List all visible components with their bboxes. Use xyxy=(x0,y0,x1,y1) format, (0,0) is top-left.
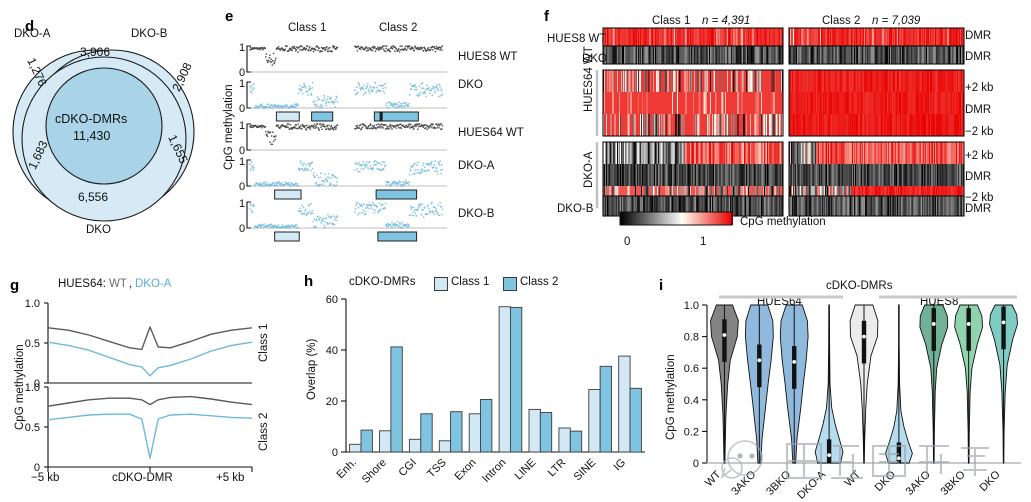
svg-text:CGI: CGI xyxy=(397,457,419,479)
panel-d: d DKO-A DKO-B DKO 3,906 1,276 2,908 1,68… xyxy=(0,0,215,260)
panel-f-colorbar-min: 0 xyxy=(624,236,630,248)
svg-text:0: 0 xyxy=(332,447,338,459)
panel-i: i cDKO-DMRs HUES64 HUES8 CpG methylation… xyxy=(655,265,1031,500)
svg-text:0.5: 0.5 xyxy=(25,338,40,350)
panel-f-left-label-hues8wt: HUES8 WT xyxy=(547,33,606,45)
svg-text:0.6: 0.6 xyxy=(684,363,699,375)
panel-g-letter: g xyxy=(10,277,19,294)
panel-f-heatmaps xyxy=(535,0,1031,250)
svg-text:0.5: 0.5 xyxy=(25,422,40,434)
svg-text:WT: WT xyxy=(703,468,724,489)
svg-text:TSS: TSS xyxy=(425,457,449,481)
panel-f-right-label-0: DMR xyxy=(965,30,991,42)
panel-e-track-label-0: HUES8 WT xyxy=(458,51,517,63)
svg-text:40: 40 xyxy=(326,345,338,357)
panel-f-right-label-8: DMR xyxy=(965,203,991,215)
svg-text:SINE: SINE xyxy=(572,457,599,484)
panel-g-title-series2: DKO-A xyxy=(135,278,171,290)
panel-f-left-label-hues64wt: HUES64 WT xyxy=(583,52,595,112)
venn-center-value: 11,430 xyxy=(73,129,110,143)
panel-h: h cDKO-DMRs Class 1 Class 2 Overlap (%) … xyxy=(300,265,660,500)
svg-text:1.0: 1.0 xyxy=(684,300,699,312)
panel-f: f Class 1 n = 4,391 Class 2 n = 7,039 HU… xyxy=(535,0,1031,262)
panel-f-right-label-6: DMR xyxy=(965,171,991,183)
venn-center-label: cDKO-DMRs xyxy=(55,112,127,126)
panel-g-title-series1: WT xyxy=(109,278,127,290)
venn-count-top: 3,906 xyxy=(80,45,110,59)
venn-count-bottom: 6,556 xyxy=(78,190,108,204)
panel-f-left-label-hues64wt-text: HUES64 WT xyxy=(583,46,595,112)
panel-g-xtick-2: +5 kb xyxy=(216,472,244,484)
panel-f-right-label-4: −2 kb xyxy=(965,126,993,138)
svg-text:1: 1 xyxy=(239,156,245,168)
svg-text:DKO: DKO xyxy=(977,468,1003,494)
panel-f-colorbar-max: 1 xyxy=(700,236,706,248)
svg-text:0.2: 0.2 xyxy=(684,426,699,438)
svg-text:0: 0 xyxy=(239,223,245,235)
svg-text:Exon: Exon xyxy=(452,457,478,483)
svg-text:0: 0 xyxy=(693,458,699,470)
panel-f-right-label-2: +2 kb xyxy=(965,82,993,94)
panel-g-xtick-1: cDKO-DMR xyxy=(112,472,173,484)
svg-text:LINE: LINE xyxy=(513,457,539,483)
panel-f-left-label-dkoa: DKO-A xyxy=(583,152,595,188)
svg-text:1: 1 xyxy=(239,42,245,54)
panel-e: e CpG methylation Class 1 Class 2 101010… xyxy=(215,0,535,260)
panel-f-right-label-1: DMR xyxy=(965,51,991,63)
svg-text:0.4: 0.4 xyxy=(684,395,699,407)
svg-text:60: 60 xyxy=(326,294,338,306)
svg-text:IG: IG xyxy=(611,457,628,474)
panel-g-xtick-0: −5 kb xyxy=(31,472,59,484)
svg-text:Shore: Shore xyxy=(360,457,389,486)
panel-e-column-title-2: Class 2 xyxy=(379,22,417,34)
panel-e-column-title-1: Class 1 xyxy=(288,22,326,34)
panel-e-tracks: 1010101010 xyxy=(215,38,535,258)
panel-e-track-label-3: DKO-A xyxy=(458,160,494,172)
panel-f-left-label-dkob: DKO-B xyxy=(557,203,593,215)
svg-text:20: 20 xyxy=(326,396,338,408)
panel-g-plot: 00.51.000.51.0 xyxy=(0,295,300,495)
svg-text:LTR: LTR xyxy=(546,457,569,480)
svg-text:1: 1 xyxy=(239,120,245,132)
svg-text:3AKO: 3AKO xyxy=(729,468,759,498)
svg-text:DKO-A: DKO-A xyxy=(795,468,829,502)
panel-e-letter: e xyxy=(225,8,233,25)
svg-text:3BKO: 3BKO xyxy=(939,468,969,498)
svg-text:1: 1 xyxy=(239,198,245,210)
venn-label-dko-b: DKO-B xyxy=(131,28,167,40)
svg-text:1.0: 1.0 xyxy=(25,298,40,310)
svg-text:1.0: 1.0 xyxy=(25,382,40,394)
svg-text:Enh.: Enh. xyxy=(335,457,359,481)
panel-f-colorbar-label: CpG methylation xyxy=(740,216,826,228)
panel-e-track-label-2: HUES64 WT xyxy=(458,127,524,139)
panel-f-right-label-3: DMR xyxy=(965,104,991,116)
svg-text:1: 1 xyxy=(239,78,245,90)
svg-text:3BKO: 3BKO xyxy=(764,468,794,498)
panel-e-track-label-1: DKO xyxy=(458,79,483,91)
svg-text:0: 0 xyxy=(239,181,245,193)
svg-text:0: 0 xyxy=(239,103,245,115)
panel-f-right-label-5: +2 kb xyxy=(965,150,993,162)
panel-i-violinplot: 00.20.40.60.81.0WT3AKO3BKODKO-AWTDKO3AKO… xyxy=(655,283,1031,498)
venn-core-region xyxy=(46,68,162,184)
panel-g-row-label-1: Class 2 xyxy=(258,413,270,451)
svg-text:3AKO: 3AKO xyxy=(904,468,934,498)
panel-g-row-label-0: Class 1 xyxy=(258,324,270,362)
svg-text:WT: WT xyxy=(843,468,864,489)
svg-text:Intron: Intron xyxy=(480,457,508,485)
panel-e-track-label-4: DKO-B xyxy=(458,208,494,220)
panel-g-title-sep: , xyxy=(129,278,132,290)
svg-text:DKO: DKO xyxy=(873,468,899,494)
panel-h-barchart: 0204060Enh.ShoreCGITSSExonIntronLINELTRS… xyxy=(300,287,660,502)
panel-g-title-prefix: HUES64: xyxy=(58,278,106,290)
venn-label-dko-a: DKO-A xyxy=(14,28,50,40)
panel-g: g HUES64: WT , DKO-A CpG methylation 00.… xyxy=(0,265,300,500)
svg-text:0.8: 0.8 xyxy=(684,332,699,344)
